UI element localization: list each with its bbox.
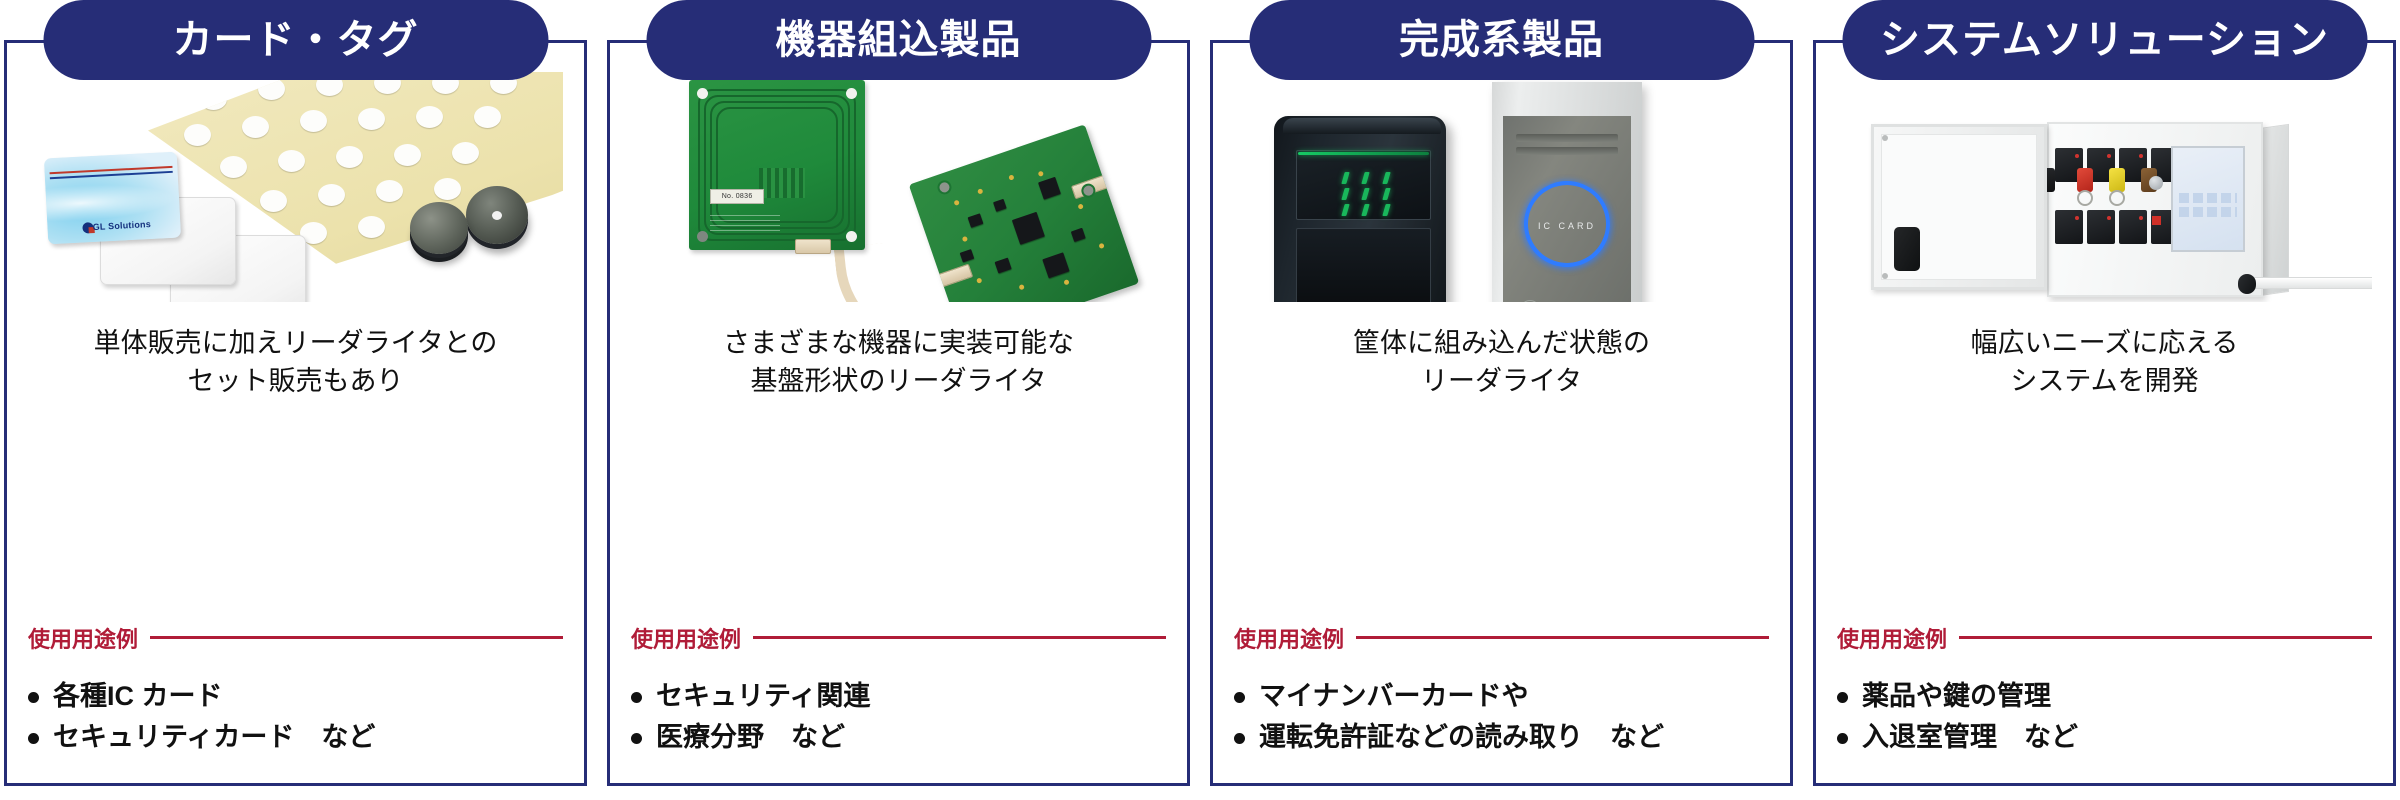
usage-heading: 使用用途例 — [28, 622, 563, 654]
product-card-embedded-product[interactable]: 機器組込製品 No. 0836 — [607, 0, 1190, 793]
bullet-icon — [1837, 692, 1848, 703]
rfid-badge-icon: RFID — [1520, 300, 1540, 302]
red-status-led-icon — [2152, 216, 2161, 225]
cabinet-handle-icon — [2245, 277, 2372, 289]
bullet-icon — [1234, 692, 1245, 703]
description-line: 幅広いニーズに応える — [1837, 324, 2372, 362]
usage-label: 使用用途例 — [1837, 622, 1947, 654]
card-description: さまざまな機器に実装可能な 基盤形状のリーダライタ — [631, 324, 1166, 401]
bullet-icon — [28, 733, 39, 744]
bullet-icon — [1234, 733, 1245, 744]
key-fob-yellow-icon — [2109, 168, 2125, 192]
usage-label: 使用用途例 — [28, 622, 138, 654]
card-logo-text: GL Solutions — [92, 219, 151, 232]
card-header-pill: システムソリューション — [1842, 0, 2367, 80]
usage-section: 使用用途例 各種IC カード セキュリティカード など — [28, 622, 563, 774]
product-card-finished-product[interactable]: 完成系製品 — [1210, 0, 1793, 793]
list-item: 医療分野 など — [631, 717, 1166, 758]
list-item: セキュリティカード など — [28, 717, 563, 758]
bullet-icon — [631, 733, 642, 744]
ic-card-icon: GL Solutions — [44, 152, 181, 245]
board-connector-icon — [795, 239, 831, 254]
usage-heading: 使用用途例 — [631, 622, 1166, 654]
control-touchscreen[interactable] — [2171, 146, 2245, 252]
card-body: 幅広いニーズに応える システムを開発 使用用途例 薬品や鍵の管理 入退室管理 な… — [1813, 40, 2396, 786]
product-photo-embedded-boards: No. 0836 — [631, 72, 1166, 302]
list-item: 入退室管理 など — [1837, 717, 2372, 758]
bullet-icon — [1837, 733, 1848, 744]
cabinet-side-panel-icon — [2259, 124, 2289, 296]
card-header-pill: カード・タグ — [43, 0, 548, 80]
card-title: システムソリューション — [1880, 20, 2329, 60]
bullet-icon — [631, 692, 642, 703]
list-item: 運転免許証などの読み取り など — [1234, 717, 1769, 758]
card-header-pill: 完成系製品 — [1249, 0, 1754, 80]
card-title: 機器組込製品 — [776, 20, 1022, 60]
cabinet-body-icon — [2047, 122, 2263, 297]
usage-label: 使用用途例 — [1234, 622, 1344, 654]
usage-list: 薬品や鍵の管理 入退室管理 など — [1837, 676, 2372, 758]
list-item: セキュリティ関連 — [631, 676, 1166, 717]
disc-tag-back-icon — [466, 186, 528, 244]
card-description: 単体販売に加えリーダライタとの セット販売もあり — [28, 324, 563, 401]
usage-divider — [1356, 636, 1769, 639]
list-item: マイナンバーカードや — [1234, 676, 1769, 717]
usage-divider — [1959, 636, 2372, 639]
card-description: 筐体に組み込んだ状態の リーダライタ — [1234, 324, 1769, 401]
usage-list: マイナンバーカードや 運転免許証などの読み取り など — [1234, 676, 1769, 758]
description-line: 基盤形状のリーダライタ — [631, 362, 1166, 400]
usage-item-label: 各種IC カード — [53, 676, 223, 717]
list-item: 薬品や鍵の管理 — [1837, 676, 2372, 717]
bullet-icon — [28, 692, 39, 703]
board-label: No. 0836 — [710, 189, 764, 204]
description-line: 筐体に組み込んだ状態の — [1234, 324, 1769, 362]
panel-label: IC CARD — [1503, 221, 1631, 231]
key-fob-red-icon — [2077, 168, 2093, 192]
usage-heading: 使用用途例 — [1837, 622, 2372, 654]
card-title: カード・タグ — [173, 20, 419, 60]
controller-board-icon — [909, 124, 1140, 302]
usage-item-label: マイナンバーカードや — [1259, 676, 1528, 717]
usage-divider — [753, 636, 1166, 639]
card-description: 幅広いニーズに応える システムを開発 — [1837, 324, 2372, 401]
usage-item-label: セキュリティ関連 — [656, 676, 870, 717]
usage-item-label: 運転免許証などの読み取り など — [1259, 717, 1664, 758]
usage-item-label: 医療分野 など — [656, 717, 845, 758]
usage-section: 使用用途例 マイナンバーカードや 運転免許証などの読み取り など — [1234, 622, 1769, 774]
description-line: システムを開発 — [1837, 362, 2372, 400]
usage-item-label: 薬品や鍵の管理 — [1862, 676, 2051, 717]
usage-list: セキュリティ関連 医療分野 など — [631, 676, 1166, 758]
product-category-board: カード・タグ — [0, 0, 2400, 800]
description-line: セット販売もあり — [28, 362, 563, 400]
description-line: リーダライタ — [1234, 362, 1769, 400]
product-photo-finished-readers: IC CARD RFID — [1234, 72, 1769, 302]
list-item: 各種IC カード — [28, 676, 563, 717]
usage-label: 使用用途例 — [631, 622, 741, 654]
description-line: 単体販売に加えリーダライタとの — [28, 324, 563, 362]
product-card-card-tag[interactable]: カード・タグ — [4, 0, 587, 793]
description-line: さまざまな機器に実装可能な — [631, 324, 1166, 362]
usage-item-label: 入退室管理 など — [1862, 717, 2078, 758]
usage-list: 各種IC カード セキュリティカード など — [28, 676, 563, 758]
card-body: No. 0836 — [607, 40, 1190, 786]
antenna-board-icon: No. 0836 — [689, 80, 865, 250]
indicator-knob-icon — [2149, 176, 2163, 190]
panel-card-reader-icon: IC CARD RFID — [1492, 82, 1642, 302]
disc-tag-front-icon — [410, 202, 468, 254]
black-card-reader-icon — [1274, 116, 1446, 302]
product-photo-cards-and-tags: GL Solutions — [28, 72, 563, 302]
usage-divider — [150, 636, 563, 639]
product-photo-key-cabinet — [1837, 72, 2372, 302]
product-card-system-solution[interactable]: システムソリューション — [1813, 0, 2396, 793]
usage-item-label: セキュリティカード など — [53, 717, 375, 758]
usage-section: 使用用途例 セキュリティ関連 医療分野 など — [631, 622, 1166, 774]
card-title: 完成系製品 — [1399, 20, 1604, 60]
usage-section: 使用用途例 薬品や鍵の管理 入退室管理 など — [1837, 622, 2372, 774]
cabinet-door-icon — [1871, 124, 2047, 290]
card-body: IC CARD RFID 筐体に組み込んだ状態の リーダライタ 使用用途例 — [1210, 40, 1793, 786]
usage-heading: 使用用途例 — [1234, 622, 1769, 654]
card-body: GL Solutions 単体販売に加えリーダライタとの セット販売もあり 使用… — [4, 40, 587, 786]
card-header-pill: 機器組込製品 — [646, 0, 1151, 80]
